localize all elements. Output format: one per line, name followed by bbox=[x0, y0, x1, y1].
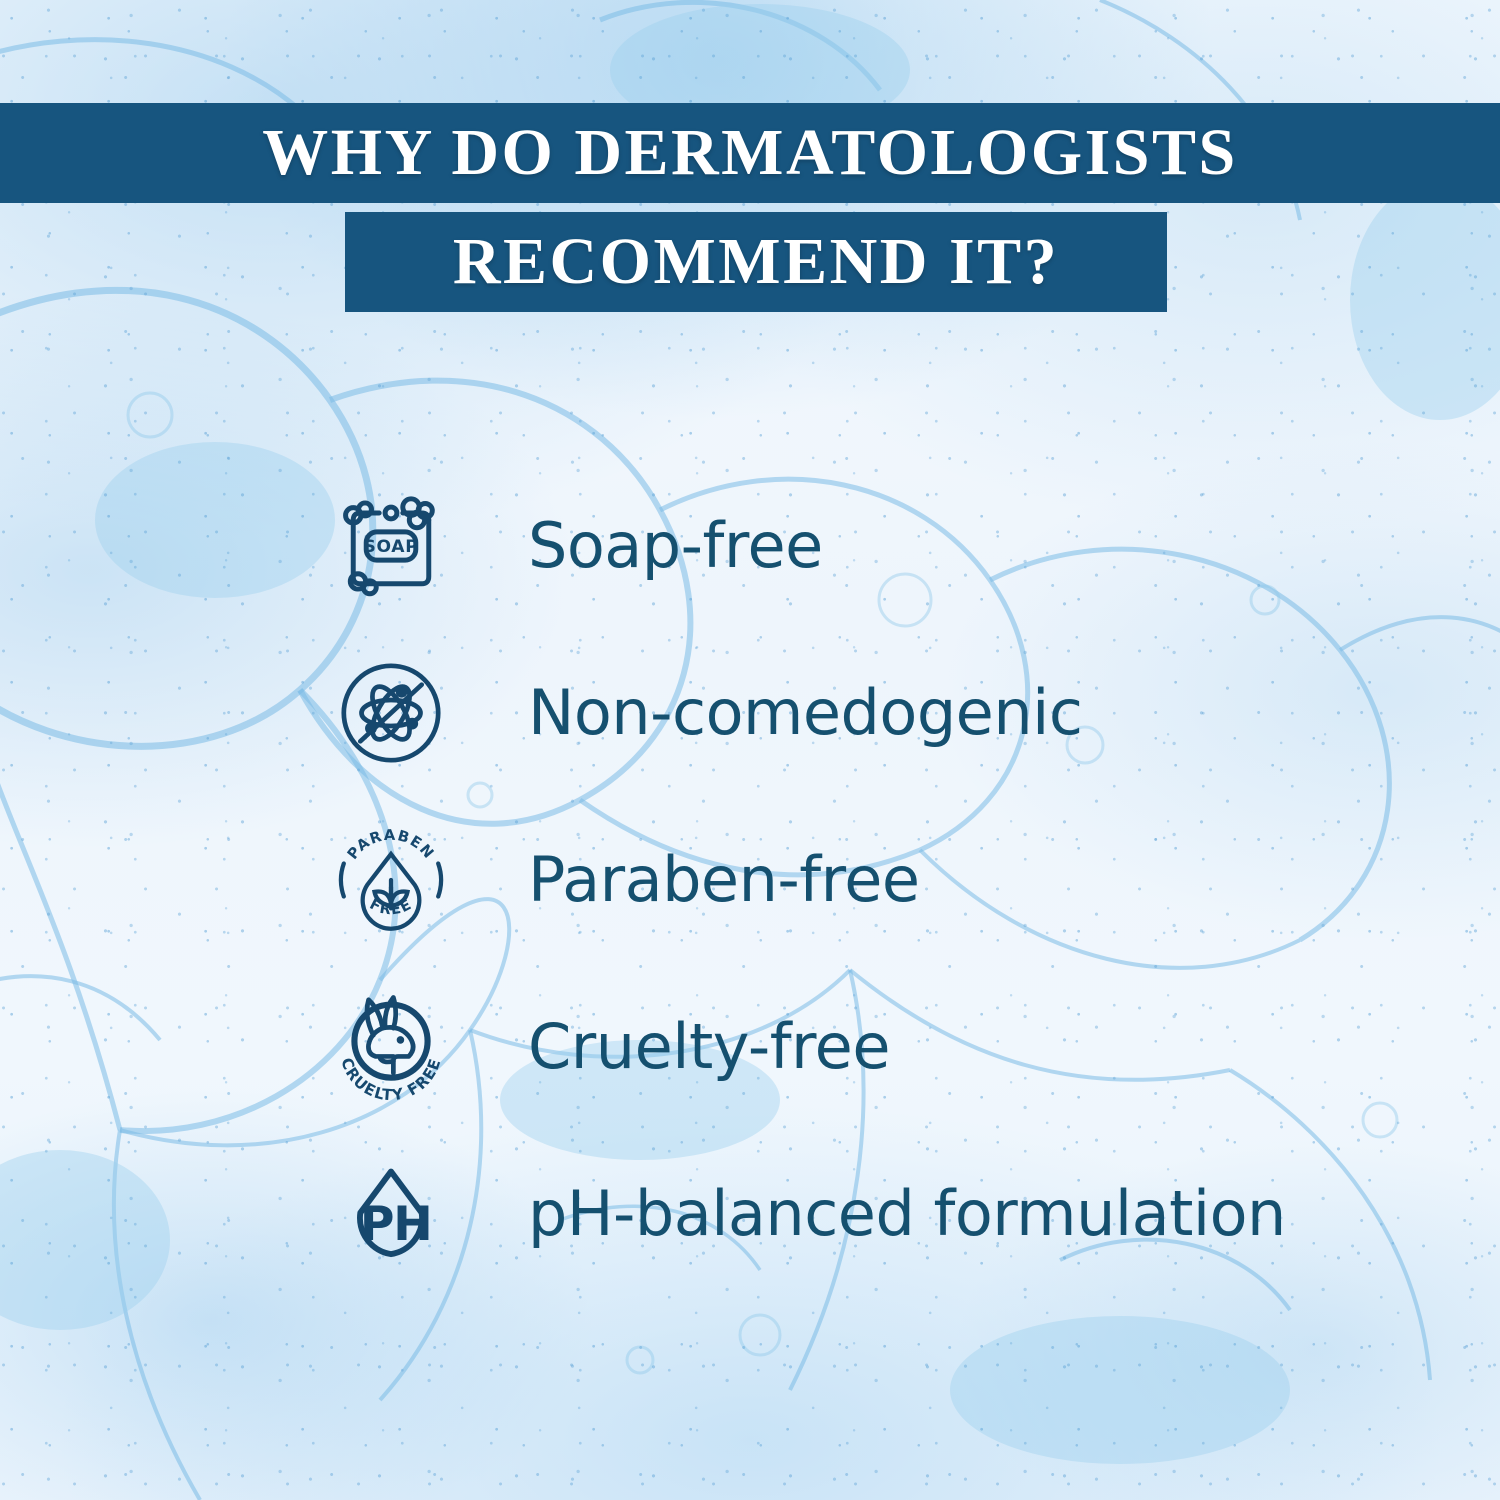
feature-label-cruelty-free: Cruelty-free bbox=[528, 1016, 890, 1078]
feature-row-ph-balanced: PH pH-balanced formulation bbox=[0, 1130, 1500, 1297]
headline-band-top: WHY DO DERMATOLOGISTS bbox=[0, 103, 1500, 203]
headline-line-2: RECOMMEND IT? bbox=[453, 229, 1059, 295]
feature-list: SOAP Soap-free bbox=[0, 462, 1500, 1297]
non-comedogenic-atom-icon bbox=[332, 654, 450, 772]
soap-free-icon: SOAP bbox=[332, 487, 450, 605]
cruelty-free-rabbit-icon: CRUELTY FREE bbox=[332, 988, 450, 1106]
feature-label-non-comedogenic: Non-comedogenic bbox=[528, 682, 1082, 744]
ph-balanced-droplet-icon: PH bbox=[332, 1155, 450, 1273]
feature-row-non-comedogenic: Non-comedogenic bbox=[0, 629, 1500, 796]
poster-canvas: WHY DO DERMATOLOGISTS RECOMMEND IT? bbox=[0, 0, 1500, 1500]
headline-line-1: WHY DO DERMATOLOGISTS bbox=[262, 120, 1237, 186]
soap-icon-text: SOAP bbox=[364, 536, 419, 556]
ph-icon-text: PH bbox=[360, 1196, 432, 1251]
feature-label-soap-free: Soap-free bbox=[528, 515, 823, 577]
paraben-free-droplet-icon: PARABEN FREE bbox=[332, 821, 450, 939]
feature-label-paraben-free: Paraben-free bbox=[528, 849, 920, 911]
feature-row-cruelty-free: CRUELTY FREE Cruelty-free bbox=[0, 963, 1500, 1130]
feature-row-soap-free: SOAP Soap-free bbox=[0, 462, 1500, 629]
feature-label-ph-balanced: pH-balanced formulation bbox=[528, 1183, 1286, 1245]
headline-band-bottom: RECOMMEND IT? bbox=[345, 212, 1167, 312]
feature-row-paraben-free: PARABEN FREE Paraben-free bbox=[0, 796, 1500, 963]
